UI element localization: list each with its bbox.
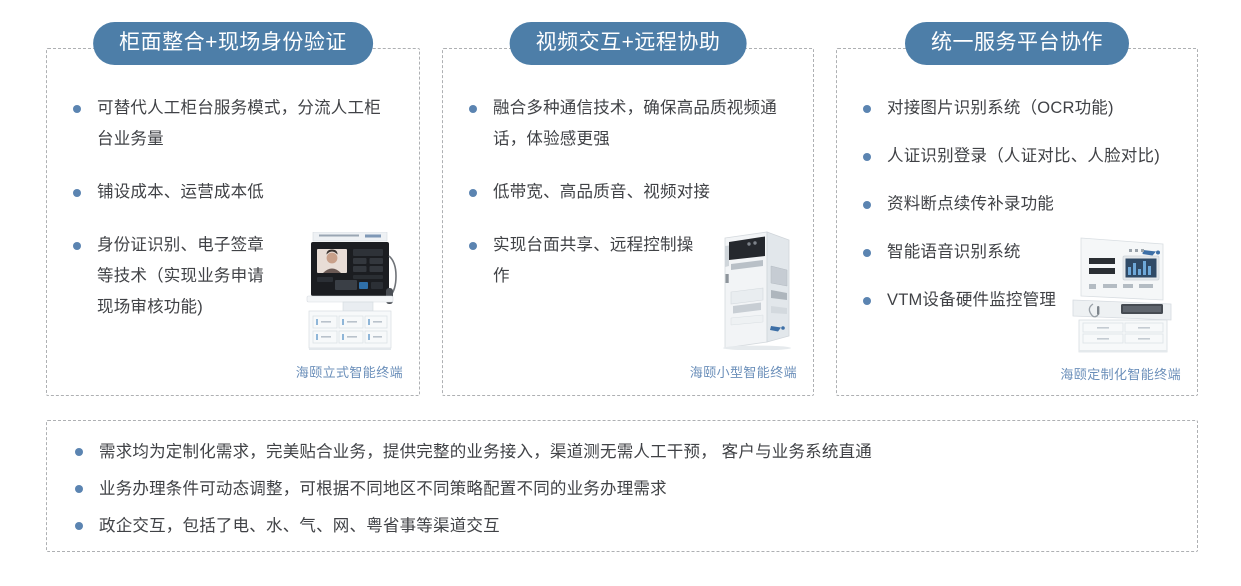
bullet-text: 对接图片识别系统（OCR功能) <box>887 93 1181 124</box>
panel-summary: 需求均为定制化需求，完美贴合业务，提供完整的业务接入，渠道测无需人工干预， 客户… <box>46 420 1198 552</box>
bullet-text: 低带宽、高品质音、视频对接 <box>493 177 789 208</box>
bullet-text: 融合多种通信技术，确保高品质视频通话，体验感更强 <box>493 93 789 155</box>
custom-kiosk-icon <box>1059 234 1179 359</box>
panel-video-interaction: 视频交互+远程协助 融合多种通信技术，确保高品质视频通话，体验感更强 低带宽、高… <box>442 48 814 396</box>
upright-kiosk-icon <box>299 232 403 355</box>
compact-kiosk-icon <box>705 230 797 355</box>
panel-cabinet-integration: 柜面整合+现场身份验证 可替代人工柜台服务模式，分流人工柜台业务量 铺设成本、运… <box>46 48 420 396</box>
bullet-text: 铺设成本、运营成本低 <box>97 177 393 208</box>
device-caption-3: 海颐定制化智能终端 <box>1060 364 1181 383</box>
bullet-text: 政企交互，包括了电、水、气、网、粤省事等渠道交互 <box>99 517 500 535</box>
device-caption-2: 海颐小型智能终端 <box>690 362 797 381</box>
device-caption-1: 海颐立式智能终端 <box>296 362 403 381</box>
list-item: 融合多种通信技术，确保高品质视频通话，体验感更强 <box>463 93 797 155</box>
bullet-text: 业务办理条件可动态调整，可根据不同地区不同策略配置不同的业务办理需求 <box>99 480 667 498</box>
list-item: 低带宽、高品质音、视频对接 <box>463 177 797 208</box>
list-item: 政企交互，包括了电、水、气、网、粤省事等渠道交互 <box>69 513 1177 539</box>
list-item: 资料断点续传补录功能 <box>857 189 1181 220</box>
panel-unified-service-platform: 统一服务平台协作 对接图片识别系统（OCR功能) 人证识别登录（人证对比、人脸对… <box>836 48 1198 396</box>
bullet-text: 智能语音识别系统 <box>887 237 1083 268</box>
list-item: 业务办理条件可动态调整，可根据不同地区不同策略配置不同的业务办理需求 <box>69 476 1177 502</box>
list-item: 对接图片识别系统（OCR功能) <box>857 93 1181 124</box>
bullet-text: 可替代人工柜台服务模式，分流人工柜台业务量 <box>97 93 393 155</box>
bullet-text: 需求均为定制化需求，完美贴合业务，提供完整的业务接入，渠道测无需人工干预， 客户… <box>99 443 872 461</box>
bullet-text: 身份证识别、电子签章等技术（实现业务申请现场审核功能) <box>97 230 277 323</box>
panel-row: 柜面整合+现场身份验证 可替代人工柜台服务模式，分流人工柜台业务量 铺设成本、运… <box>46 48 1198 396</box>
list-item: 铺设成本、运营成本低 <box>67 177 403 208</box>
list-item: 需求均为定制化需求，完美贴合业务，提供完整的业务接入，渠道测无需人工干预， 客户… <box>69 439 1177 465</box>
bullet-text: 人证识别登录（人证对比、人脸对比) <box>887 141 1181 172</box>
bullet-text: 实现台面共享、远程控制操作 <box>493 230 703 292</box>
list-item: 可替代人工柜台服务模式，分流人工柜台业务量 <box>67 93 403 155</box>
bullet-text: 资料断点续传补录功能 <box>887 189 1181 220</box>
list-item: 人证识别登录（人证对比、人脸对比) <box>857 141 1181 172</box>
bullet-list-summary: 需求均为定制化需求，完美贴合业务，提供完整的业务接入，渠道测无需人工干预， 客户… <box>69 439 1177 539</box>
bullet-text: VTM设备硬件监控管理 <box>887 285 1083 316</box>
slide-canvas: 柜面整合+现场身份验证 可替代人工柜台服务模式，分流人工柜台业务量 铺设成本、运… <box>0 0 1241 586</box>
